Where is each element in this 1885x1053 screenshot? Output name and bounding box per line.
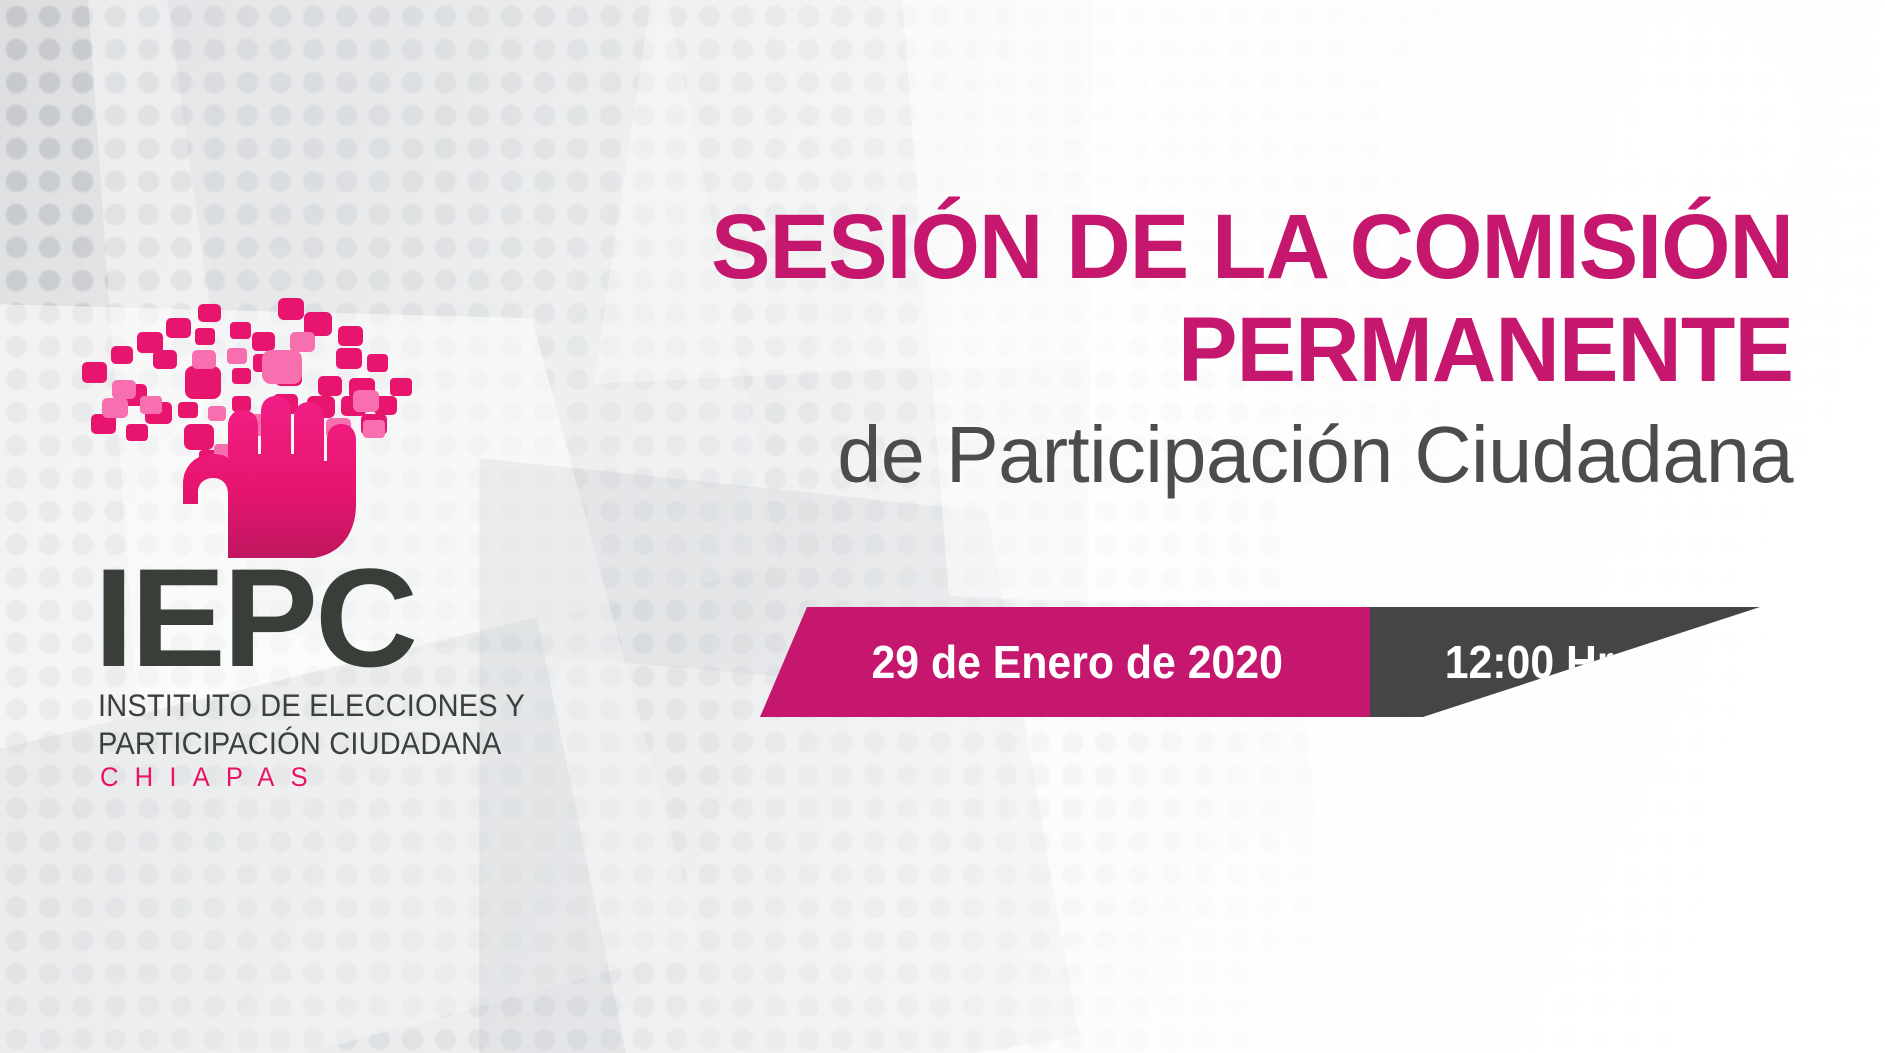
headline-group: SESIÓN DE LA COMISIÓN PERMANENTE de Part… [673,196,1793,502]
pixel-tree-hand-icon [82,298,432,558]
headline-line-2: PERMANENTE [707,299,1793,402]
logo-institution-line-2: PARTICIPACIÓN CIUDADANA [98,726,442,760]
logo-acronym: IEPC [94,552,480,684]
date-time-ribbon: 29 de Enero de 2020 12:00 Hrs. [760,607,1760,717]
event-time-text: 12:00 Hrs. [1445,635,1650,689]
logo-institution-line-1: INSTITUTO DE ELECCIONES Y [98,688,442,722]
iepc-logo: IEPC INSTITUTO DE ELECCIONES Y PARTICIPA… [72,298,472,793]
event-announcement-banner: IEPC INSTITUTO DE ELECCIONES Y PARTICIPA… [0,0,1885,1053]
event-date-chip: 29 de Enero de 2020 [760,607,1370,717]
headline-line-1: SESIÓN DE LA COMISIÓN [707,196,1793,299]
event-date-text: 29 de Enero de 2020 [871,635,1282,689]
headline-subtitle: de Participación Ciudadana [684,408,1793,502]
logo-state-name: CHIAPAS [100,762,453,793]
event-time-chip: 12:00 Hrs. [1370,607,1760,717]
